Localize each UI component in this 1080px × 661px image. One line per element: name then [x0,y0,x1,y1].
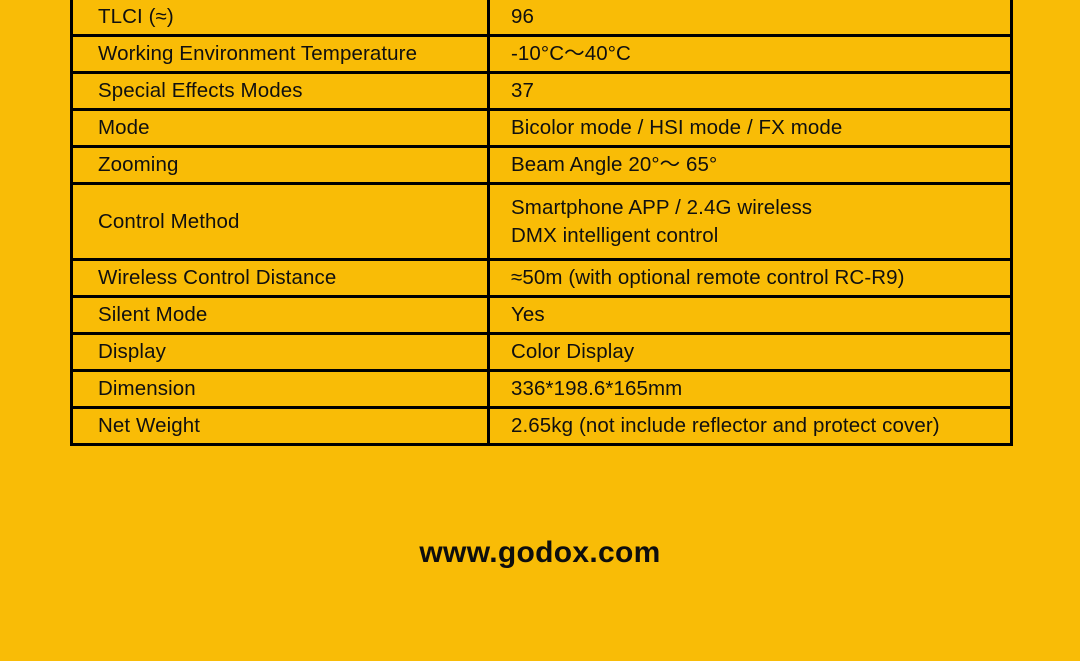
table-row: Special Effects Modes37 [72,73,1012,110]
table-row: Dimension336*198.6*165mm [72,371,1012,408]
spec-parameter-label: Net Weight [72,408,489,445]
spec-parameter-value: ≈50m (with optional remote control RC-R9… [489,260,1012,297]
table-row: ZoomingBeam Angle 20°～ 65° [72,147,1012,184]
spec-parameter-value: 37 [489,73,1012,110]
table-row: DisplayColor Display [72,334,1012,371]
table-row: TLCI (≈)96 [72,0,1012,36]
spec-parameter-value: Beam Angle 20°～ 65° [489,147,1012,184]
website-url: www.godox.com [419,536,660,570]
specification-page: TLCI (≈)96Working Environment Temperatur… [0,0,1080,661]
spec-parameter-value: 336*198.6*165mm [489,371,1012,408]
spec-parameter-label: Control Method [72,184,489,260]
spec-parameter-label: Dimension [72,371,489,408]
page-footer: www.godox.com [0,536,1080,570]
spec-parameter-value: 2.65kg (not include reflector and protec… [489,408,1012,445]
spec-parameter-label: Special Effects Modes [72,73,489,110]
spec-parameter-value: 96 [489,0,1012,36]
spec-parameter-label: Display [72,334,489,371]
table-row: Net Weight2.65kg (not include reflector … [72,408,1012,445]
spec-parameter-value: -10°C～40°C [489,36,1012,73]
spec-parameter-label: Wireless Control Distance [72,260,489,297]
spec-parameter-label: Zooming [72,147,489,184]
product-specification-table: TLCI (≈)96Working Environment Temperatur… [70,0,1013,446]
spec-parameter-label: Mode [72,110,489,147]
spec-parameter-value: Smartphone APP / 2.4G wireless DMX intel… [489,184,1012,260]
spec-parameter-value: Color Display [489,334,1012,371]
spec-parameter-label: TLCI (≈) [72,0,489,36]
spec-table-body: TLCI (≈)96Working Environment Temperatur… [72,0,1012,445]
table-row: Control MethodSmartphone APP / 2.4G wire… [72,184,1012,260]
spec-parameter-value: Bicolor mode / HSI mode / FX mode [489,110,1012,147]
spec-parameter-value: Yes [489,297,1012,334]
table-row: Working Environment Temperature-10°C～40°… [72,36,1012,73]
table-row: ModeBicolor mode / HSI mode / FX mode [72,110,1012,147]
specification-table-container: TLCI (≈)96Working Environment Temperatur… [70,0,1010,446]
table-row: Silent ModeYes [72,297,1012,334]
spec-parameter-label: Working Environment Temperature [72,36,489,73]
spec-parameter-label: Silent Mode [72,297,489,334]
table-row: Wireless Control Distance≈50m (with opti… [72,260,1012,297]
